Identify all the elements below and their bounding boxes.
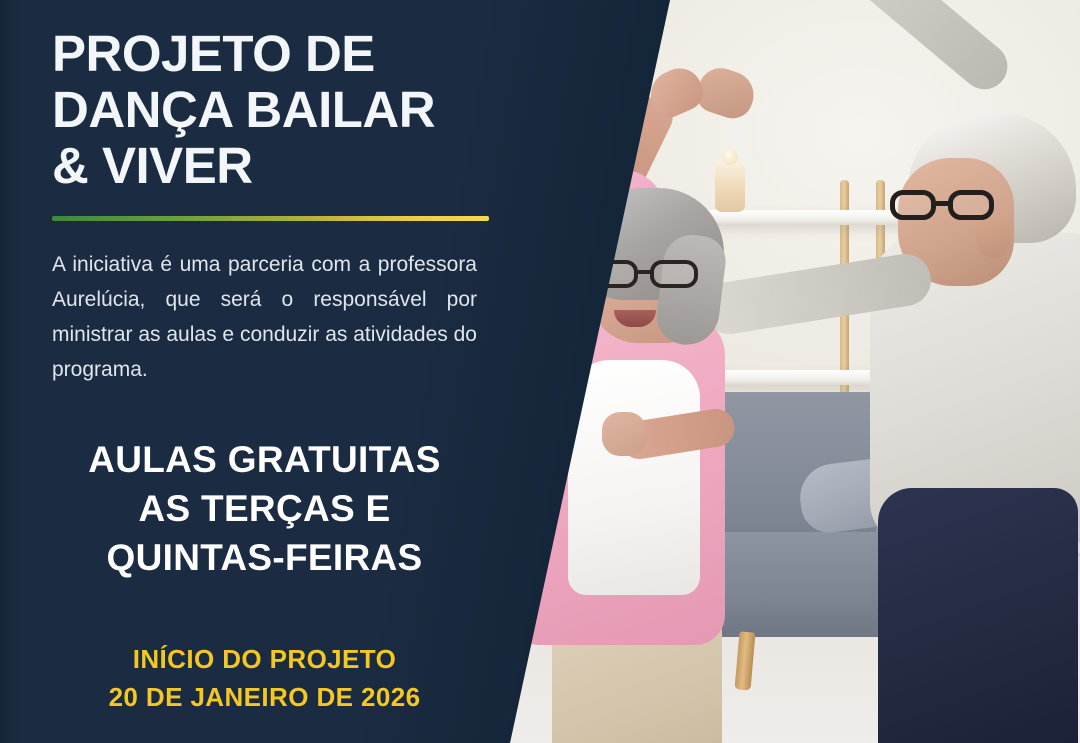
poster-title: PROJETO DE DANÇA BAILAR & VIVER (52, 26, 484, 194)
poster-lead-paragraph: A iniciativa é uma parceria com a profes… (52, 247, 477, 387)
man-glasses (890, 190, 998, 222)
poster-root: PROJETO DE DANÇA BAILAR & VIVER A inicia… (0, 0, 1080, 743)
woman-hand (602, 412, 646, 456)
woman-white-tee (568, 360, 700, 595)
poster-headline: AULAS GRATUITAS AS TERÇAS E QUINTAS-FEIR… (52, 435, 477, 582)
man-trousers (878, 488, 1078, 743)
gradient-divider (52, 216, 489, 221)
text-panel: PROJETO DE DANÇA BAILAR & VIVER A inicia… (0, 0, 520, 743)
poster-start-date-note: INÍCIO DO PROJETO 20 DE JANEIRO DE 2026 (52, 640, 477, 716)
